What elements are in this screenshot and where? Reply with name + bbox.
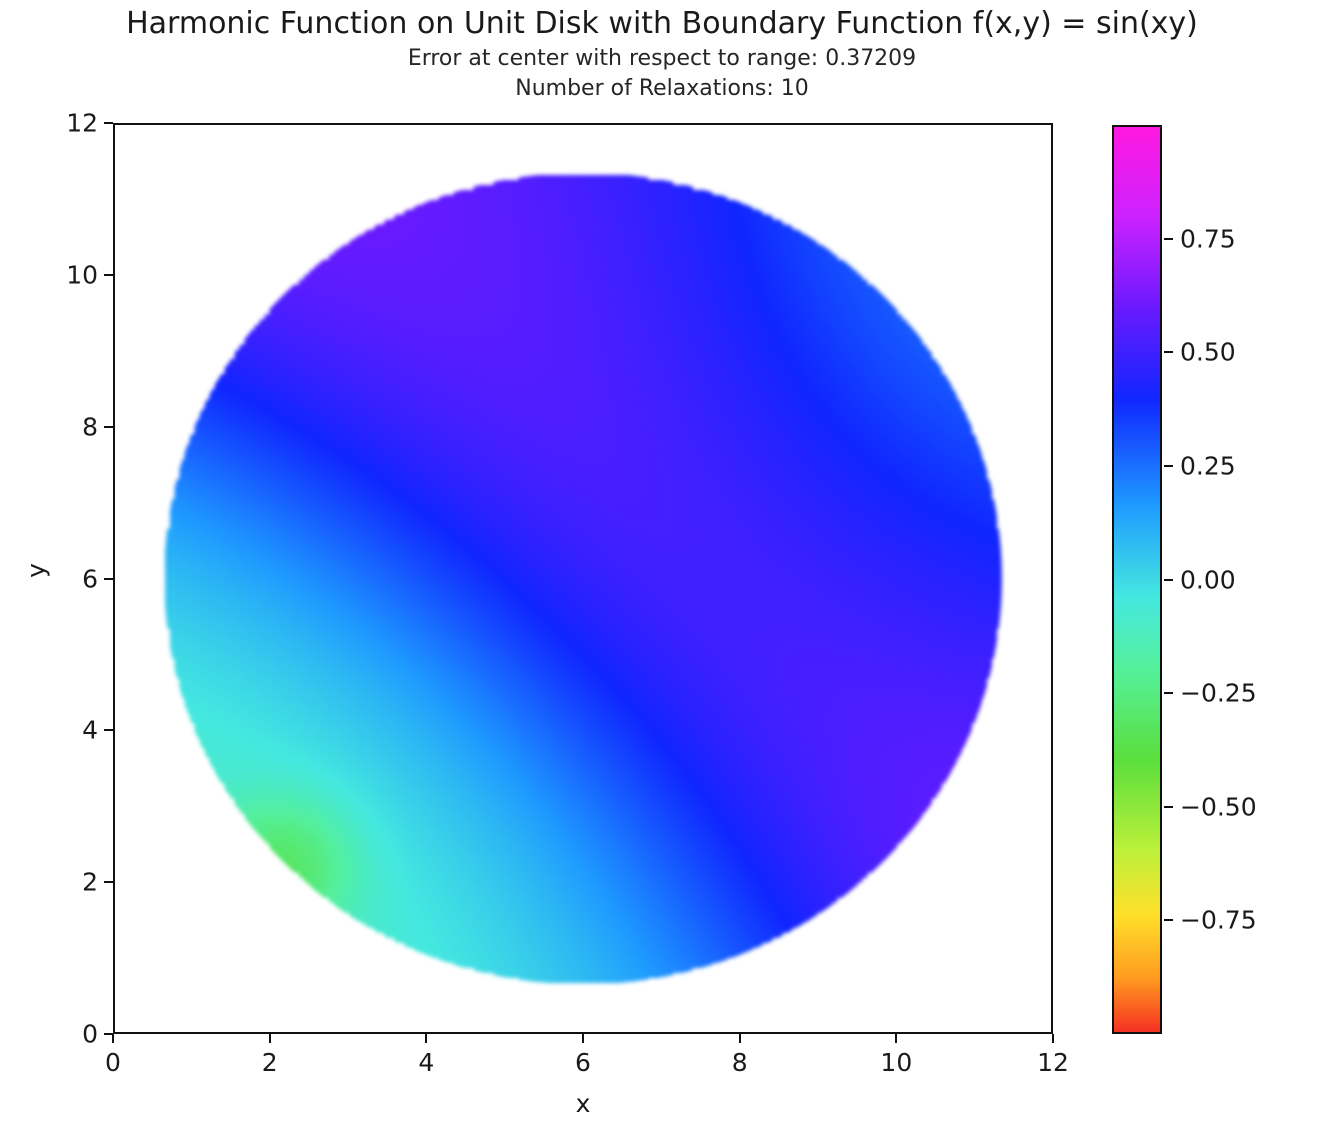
figure-canvas: Harmonic Function on Unit Disk with Boun… [0,0,1324,1128]
y-tick-mark [104,274,113,276]
x-tick-mark [269,1034,271,1043]
subtitle-error: Error at center with respect to range: 0… [0,44,1324,74]
x-tick-mark [895,1034,897,1043]
colorbar-tick-label: 0.50 [1180,338,1236,367]
page-title: Harmonic Function on Unit Disk with Boun… [0,4,1324,44]
colorbar-tick-mark [1164,692,1173,694]
x-axis-label: x [113,1089,1053,1118]
colorbar-tick-mark [1164,238,1173,240]
colorbar-tick-mark [1164,465,1173,467]
y-tick-mark [104,881,113,883]
colorbar-tick-label: −0.25 [1180,679,1257,708]
colorbar-gradient [1114,127,1160,1032]
y-tick-mark [104,578,113,580]
colorbar-tick-mark [1164,579,1173,581]
colorbar [1112,125,1162,1034]
x-tick-label: 4 [386,1048,466,1077]
y-tick-label: 0 [18,1020,98,1049]
colorbar-tick-label: −0.75 [1180,906,1257,935]
x-tick-label: 10 [856,1048,936,1077]
title-block: Harmonic Function on Unit Disk with Boun… [0,4,1324,104]
colorbar-tick-label: 0.00 [1180,565,1236,594]
x-tick-label: 6 [543,1048,623,1077]
x-tick-mark [425,1034,427,1043]
y-tick-mark [104,729,113,731]
y-tick-label: 2 [18,868,98,897]
y-axis-label: y [22,531,51,611]
y-tick-label: 8 [18,412,98,441]
x-tick-label: 8 [700,1048,780,1077]
x-tick-label: 2 [230,1048,310,1077]
x-tick-mark [1052,1034,1054,1043]
y-tick-label: 10 [18,260,98,289]
subtitle-relaxations: Number of Relaxations: 10 [0,74,1324,104]
x-tick-mark [112,1034,114,1043]
y-tick-label: 12 [18,109,98,138]
y-tick-mark [104,122,113,124]
colorbar-tick-mark [1164,919,1173,921]
plot-axes [113,123,1053,1034]
y-tick-mark [104,426,113,428]
colorbar-tick-label: 0.75 [1180,224,1236,253]
colorbar-tick-label: −0.50 [1180,792,1257,821]
y-tick-label: 4 [18,716,98,745]
x-tick-mark [582,1034,584,1043]
heatmap-field [115,125,1051,1032]
colorbar-tick-mark [1164,806,1173,808]
colorbar-tick-mark [1164,351,1173,353]
colorbar-tick-label: 0.25 [1180,451,1236,480]
x-tick-mark [739,1034,741,1043]
x-tick-label: 0 [73,1048,153,1077]
x-tick-label: 12 [1013,1048,1093,1077]
